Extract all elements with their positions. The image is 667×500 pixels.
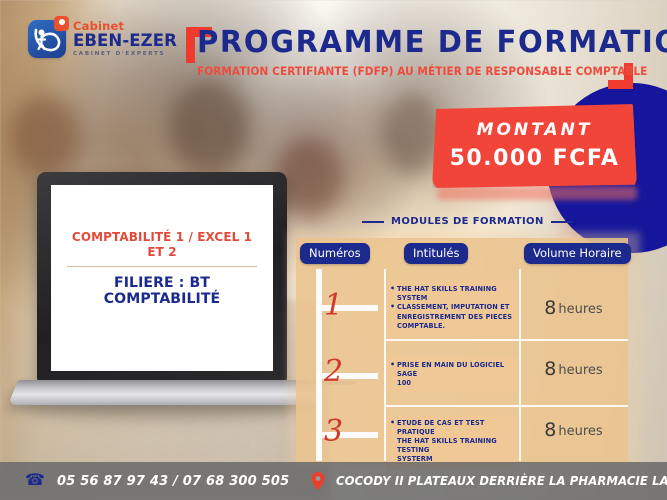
column-header-volume-horaire: Volume Horaire — [524, 243, 631, 264]
modules-table: Numéros Intitulés Volume Horaire 1 THE H… — [296, 243, 628, 461]
modules-section-title: MODULES DE FORMATION — [391, 216, 544, 227]
bracket-bottom-right-horizontal — [608, 80, 633, 89]
contact-address[interactable]: COCODY II PLATEAUX DERRIÈRE LA PHARMACIE… — [336, 474, 667, 488]
list-item: THE HAT SKILLS TRAINING SYSTEM — [390, 285, 514, 302]
modules-section-heading: MODULES DE FORMATION — [362, 216, 573, 227]
laptop-base — [8, 380, 320, 405]
contact-phone[interactable]: 05 56 87 97 43 / 07 68 300 505 — [57, 474, 289, 489]
row-number: 3 — [324, 417, 343, 447]
row-hours: 8heures — [521, 358, 626, 380]
column-header-numeros: Numéros — [300, 243, 370, 264]
row-hours: 8heures — [521, 419, 626, 441]
row-description: PRISE EN MAIN DU LOGICIEL SAGE 100 — [386, 357, 518, 393]
row-hours-number: 8 — [544, 358, 556, 380]
row-hours-unit: heures — [558, 424, 602, 439]
price-badge-label: MONTANT — [432, 120, 637, 140]
brand-logo: Cabinet EBEN-EZER CABINET D'EXPERTS — [28, 20, 177, 58]
logo-company-name: EBEN-EZER — [73, 33, 177, 50]
price-badge: MONTANT 50.000 FCFA — [432, 104, 637, 188]
contact-footer: ☎ 05 56 87 97 43 / 07 68 300 505 COCODY … — [0, 462, 667, 500]
row-description-list: THE HAT SKILLS TRAINING SYSTEM CLASSEMEN… — [390, 285, 514, 331]
eben-ezer-logo-icon — [28, 20, 66, 58]
bokeh-blob — [170, 80, 248, 176]
price-badge-shadow — [437, 186, 637, 200]
modules-table-body: 1 THE HAT SKILLS TRAINING SYSTEM CLASSEM… — [296, 269, 628, 461]
row-divider — [386, 339, 628, 341]
list-item: PRISE EN MAIN DU LOGICIEL SAGE — [390, 361, 514, 378]
row-description: ETUDE DE CAS ET TEST PRATIQUE THE HAT SK… — [386, 415, 518, 469]
logo-tagline: CABINET D'EXPERTS — [73, 52, 177, 58]
heading-rule-right — [551, 221, 573, 223]
list-item: THE HAT SKILLS TRAINING TESTING — [390, 437, 514, 454]
row-divider — [386, 405, 628, 407]
row-hours: 8heures — [521, 297, 626, 319]
laptop-screen: COMPTABILITÉ 1 / EXCEL 1 ET 2 FILIERE : … — [51, 185, 273, 371]
list-item: 100 — [390, 379, 514, 388]
row-description-list: PRISE EN MAIN DU LOGICIEL SAGE 100 — [390, 361, 514, 388]
row-description-list: ETUDE DE CAS ET TEST PRATIQUE THE HAT SK… — [390, 419, 514, 464]
row-hours-unit: heures — [558, 302, 602, 317]
list-item: ENREGISTREMENT DES PIECES — [390, 313, 514, 322]
screen-divider — [67, 266, 257, 267]
page-title: PROGRAMME DE FORMATION — [197, 26, 624, 60]
list-item: ETUDE DE CAS ET TEST PRATIQUE — [390, 419, 514, 436]
row-description: THE HAT SKILLS TRAINING SYSTEM CLASSEMEN… — [386, 281, 518, 336]
price-badge-value: 50.000 FCFA — [432, 146, 637, 171]
column-header-intitules: Intitulés — [404, 243, 468, 264]
row-hours-number: 8 — [544, 419, 556, 441]
bokeh-blob — [10, 96, 80, 176]
page-subtitle: FORMATION CERTIFIANTE (FDFP) AU MÉTIER D… — [197, 64, 602, 78]
course-filiere: FILIERE : BT COMPTABILITÉ — [64, 275, 260, 307]
header-block: PROGRAMME DE FORMATION FORMATION CERTIFI… — [197, 26, 637, 78]
laptop-screen-content: COMPTABILITÉ 1 / EXCEL 1 ET 2 FILIERE : … — [51, 229, 273, 307]
logo-accent-dot — [54, 16, 69, 31]
bokeh-blob — [382, 92, 442, 176]
modules-table-header: Numéros Intitulés Volume Horaire — [296, 243, 628, 269]
training-program-flyer: Cabinet EBEN-EZER CABINET D'EXPERTS PROG… — [0, 0, 667, 500]
list-item: CLASSEMENT, IMPUTATION ET — [390, 303, 514, 312]
row-number: 1 — [324, 291, 343, 321]
course-title: COMPTABILITÉ 1 / EXCEL 1 ET 2 — [65, 229, 259, 259]
logo-wordmark: Cabinet EBEN-EZER CABINET D'EXPERTS — [73, 21, 177, 58]
list-item: COMPTABLE. — [390, 322, 514, 331]
row-hours-number: 8 — [544, 297, 556, 319]
telephone-icon: ☎ — [26, 473, 44, 489]
row-number: 2 — [324, 357, 343, 387]
row-hours-unit: heures — [558, 363, 602, 378]
map-pin-icon — [311, 472, 325, 490]
heading-rule-left — [362, 221, 384, 223]
